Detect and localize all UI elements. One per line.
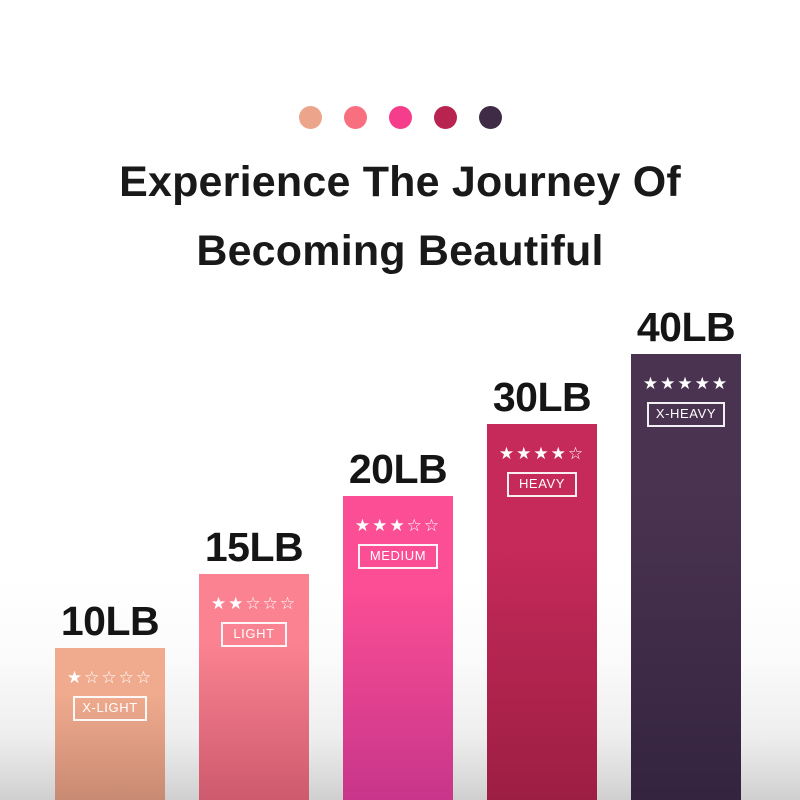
resistance-level-badge: X-LIGHT [73, 696, 146, 721]
star-empty-icon: ☆ [263, 594, 280, 613]
bar-content: ★★☆☆☆LIGHT [199, 574, 309, 647]
star-empty-icon: ☆ [280, 594, 297, 613]
star-filled-icon: ★ [228, 594, 245, 613]
star-filled-icon: ★ [533, 444, 550, 463]
bar-content: ★★★★★X-HEAVY [631, 354, 741, 427]
bar-20lb[interactable]: ★★★☆☆MEDIUM [343, 496, 453, 800]
bar-column-15lb: 15LB★★☆☆☆LIGHT [199, 518, 309, 800]
star-filled-icon: ★ [355, 516, 372, 535]
bar-content: ★★★☆☆MEDIUM [343, 496, 453, 569]
resistance-band-infographic: Experience The Journey Of Becoming Beaut… [0, 0, 800, 800]
star-filled-icon: ★ [389, 516, 406, 535]
resistance-level-badge: X-HEAVY [647, 402, 725, 427]
star-filled-icon: ★ [643, 374, 660, 393]
star-empty-icon: ☆ [245, 594, 262, 613]
resistance-level-badge: LIGHT [221, 622, 286, 647]
star-rating: ★★☆☆☆ [199, 594, 309, 613]
bar-15lb[interactable]: ★★☆☆☆LIGHT [199, 574, 309, 800]
resistance-level-badge: MEDIUM [358, 544, 438, 569]
bar-10lb[interactable]: ★☆☆☆☆X-LIGHT [55, 648, 165, 800]
star-empty-icon: ☆ [101, 668, 118, 687]
star-filled-icon: ★ [677, 374, 694, 393]
bar-value-label: 20LB [329, 449, 467, 490]
bar-value-label: 40LB [617, 307, 755, 348]
star-empty-icon: ☆ [424, 516, 441, 535]
star-empty-icon: ☆ [407, 516, 424, 535]
star-filled-icon: ★ [211, 594, 228, 613]
star-empty-icon: ☆ [136, 668, 153, 687]
bar-column-10lb: 10LB★☆☆☆☆X-LIGHT [55, 592, 165, 800]
star-filled-icon: ★ [660, 374, 677, 393]
resistance-bar-chart: 10LB★☆☆☆☆X-LIGHT15LB★★☆☆☆LIGHT20LB★★★☆☆M… [0, 0, 800, 800]
star-filled-icon: ★ [372, 516, 389, 535]
star-filled-icon: ★ [551, 444, 568, 463]
bar-column-20lb: 20LB★★★☆☆MEDIUM [343, 440, 453, 800]
star-filled-icon: ★ [516, 444, 533, 463]
star-empty-icon: ☆ [84, 668, 101, 687]
bar-column-40lb: 40LB★★★★★X-HEAVY [631, 298, 741, 800]
star-empty-icon: ☆ [568, 444, 585, 463]
bar-content: ★★★★☆HEAVY [487, 424, 597, 497]
star-filled-icon: ★ [695, 374, 712, 393]
resistance-level-badge: HEAVY [507, 472, 577, 497]
bar-value-label: 15LB [185, 527, 323, 568]
star-empty-icon: ☆ [119, 668, 136, 687]
star-filled-icon: ★ [712, 374, 729, 393]
star-rating: ★★★☆☆ [343, 516, 453, 535]
star-rating: ★★★★☆ [487, 444, 597, 463]
star-filled-icon: ★ [67, 668, 84, 687]
star-filled-icon: ★ [499, 444, 516, 463]
bar-30lb[interactable]: ★★★★☆HEAVY [487, 424, 597, 800]
bar-content: ★☆☆☆☆X-LIGHT [55, 648, 165, 721]
bar-column-30lb: 30LB★★★★☆HEAVY [487, 368, 597, 800]
bar-40lb[interactable]: ★★★★★X-HEAVY [631, 354, 741, 800]
bar-value-label: 30LB [473, 377, 611, 418]
bar-value-label: 10LB [41, 601, 179, 642]
star-rating: ★☆☆☆☆ [55, 668, 165, 687]
star-rating: ★★★★★ [631, 374, 741, 393]
